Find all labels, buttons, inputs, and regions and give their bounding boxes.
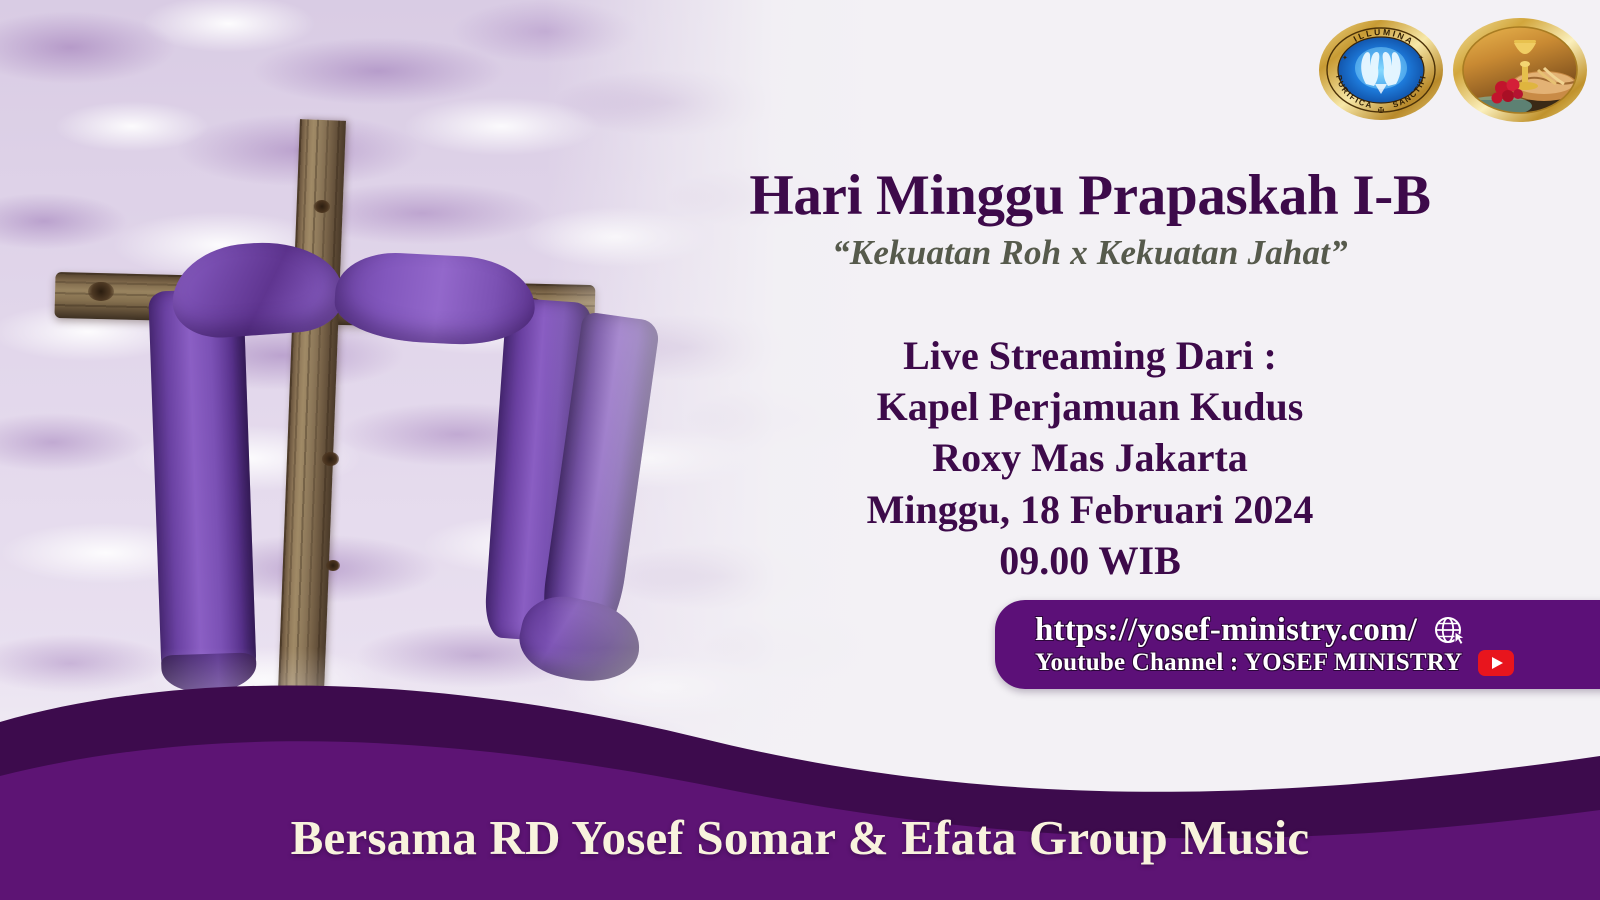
illumina-seal-icon: ILLUMINA PURIFICA SANCTIFICA ✠ ✦ ✦ (1318, 14, 1444, 126)
svg-text:✦: ✦ (1342, 54, 1348, 62)
website-url[interactable]: https://yosef-ministry.com/ (1035, 612, 1417, 649)
svg-text:✦: ✦ (1418, 54, 1424, 62)
detail-line-date: Minggu, 18 Februari 2024 (640, 484, 1540, 535)
svg-text:✠: ✠ (1378, 106, 1385, 115)
emblem-group: ILLUMINA PURIFICA SANCTIFICA ✠ ✦ ✦ (1318, 14, 1588, 126)
detail-line-location: Roxy Mas Jakarta (640, 432, 1540, 483)
banner-credit-text: Bersama RD Yosef Somar & Efata Group Mus… (0, 809, 1600, 866)
event-details: Live Streaming Dari : Kapel Perjamuan Ku… (640, 330, 1540, 586)
lenten-event-poster: ILLUMINA PURIFICA SANCTIFICA ✠ ✦ ✦ (0, 0, 1600, 900)
globe-icon (1433, 614, 1467, 648)
page-title: Hari Minggu Prapaskah I-B (640, 166, 1540, 225)
website-row[interactable]: https://yosef-ministry.com/ (995, 612, 1600, 649)
page-subtitle: “Kekuatan Roh x Kekuatan Jahat” (640, 233, 1540, 273)
detail-line-time: 09.00 WIB (640, 535, 1540, 586)
eucharist-seal-icon (1452, 14, 1588, 126)
detail-line-streaming: Live Streaming Dari : (640, 330, 1540, 381)
detail-line-venue: Kapel Perjamuan Kudus (640, 381, 1540, 432)
